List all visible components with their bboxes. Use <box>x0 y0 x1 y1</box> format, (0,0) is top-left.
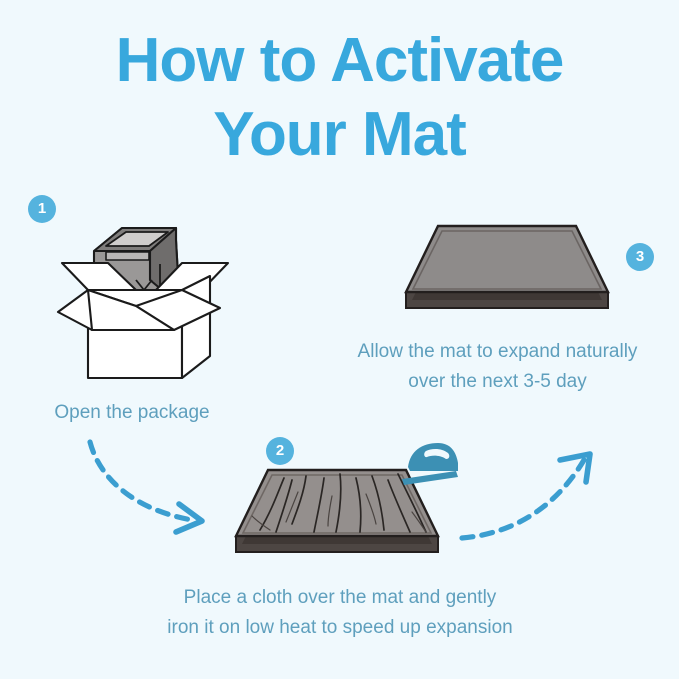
iron-icon <box>396 437 462 489</box>
cardboard-box-icon <box>50 218 240 393</box>
step-badge-2: 2 <box>266 437 294 465</box>
step-caption-1: Open the package <box>0 398 264 428</box>
dashed-curved-arrow-right-down-icon <box>84 438 224 543</box>
title-line-1: How to Activate <box>0 24 679 98</box>
flat-mat-icon <box>398 218 613 318</box>
step-badge-3: 3 <box>626 243 654 271</box>
step-caption-3: Allow the mat to expand naturally over t… <box>325 337 670 397</box>
dashed-curved-arrow-right-up-icon <box>458 448 598 553</box>
title-line-2: Your Mat <box>0 98 679 172</box>
infographic-root: How to Activate Your Mat 1 <box>0 0 679 679</box>
page-title: How to Activate Your Mat <box>0 24 679 172</box>
step-caption-2: Place a cloth over the mat and gently ir… <box>100 583 580 643</box>
